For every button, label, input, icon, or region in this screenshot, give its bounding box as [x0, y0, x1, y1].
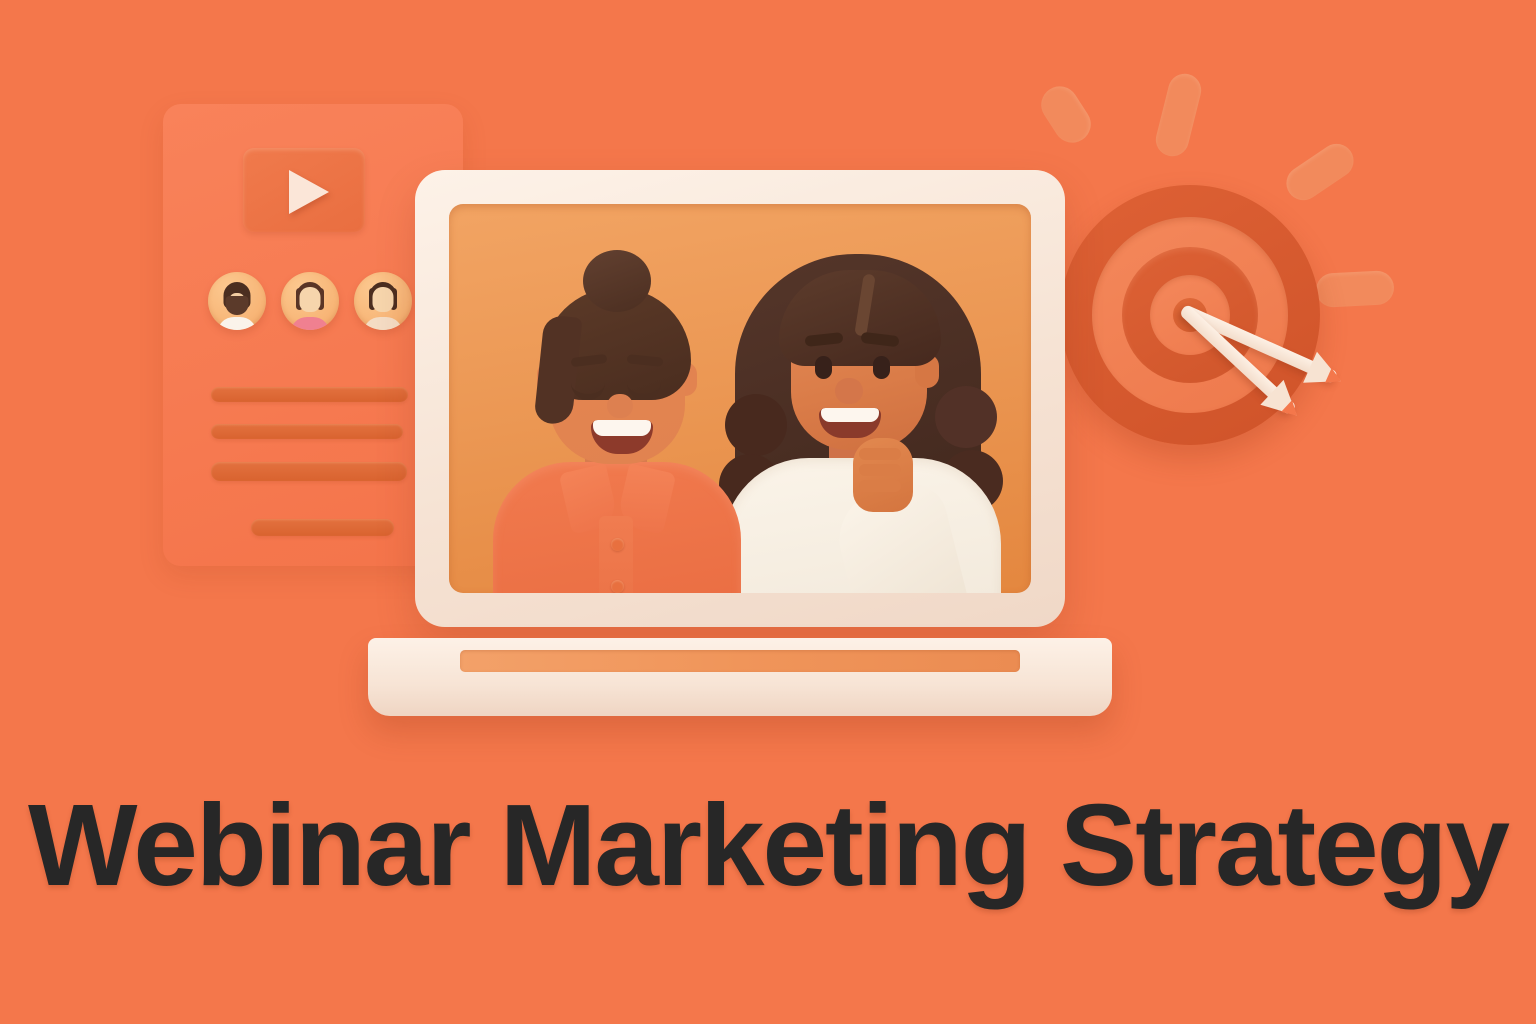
- text-placeholder-bar: [211, 462, 407, 481]
- teeth: [821, 408, 879, 422]
- page-title: Webinar Marketing Strategy: [0, 782, 1536, 910]
- avatar-head: [373, 287, 394, 312]
- burst-mark: [1315, 270, 1395, 308]
- illustration-canvas: Webinar Marketing Strategy: [0, 0, 1536, 1024]
- finger: [859, 480, 901, 492]
- avatar-body: [363, 317, 403, 330]
- hair-wave: [935, 386, 997, 448]
- finger: [859, 464, 901, 476]
- hair-bun: [583, 250, 651, 312]
- nose: [607, 394, 633, 418]
- person-bun-hairstyle: [487, 244, 747, 593]
- play-icon[interactable]: [289, 170, 329, 214]
- beard-icon: [226, 296, 249, 315]
- finger: [859, 448, 901, 460]
- avatar-head: [300, 287, 321, 312]
- shirt-button: [611, 580, 624, 593]
- teeth: [593, 420, 651, 436]
- text-placeholder-bar: [211, 424, 403, 439]
- avatar-body: [290, 317, 330, 330]
- video-thumbnail[interactable]: [243, 148, 365, 232]
- laptop-lid: [415, 170, 1065, 627]
- laptop-base: [368, 638, 1112, 716]
- arrow-fletching: [1261, 380, 1309, 428]
- text-placeholder-bar: [251, 519, 394, 536]
- burst-mark: [1034, 79, 1098, 149]
- trackpad-strip: [460, 650, 1020, 672]
- avatar[interactable]: [281, 272, 339, 330]
- laptop-screen: [449, 204, 1031, 593]
- avatar[interactable]: [208, 272, 266, 330]
- burst-mark: [1152, 70, 1204, 159]
- avatar-body: [217, 317, 257, 330]
- eye: [873, 356, 890, 379]
- eye: [815, 356, 832, 379]
- nose: [835, 378, 863, 404]
- text-placeholder-bar: [211, 387, 408, 402]
- dartboard-target: [1060, 185, 1320, 445]
- avatar[interactable]: [354, 272, 412, 330]
- shirt-button: [611, 538, 624, 551]
- person-long-wavy-hair: [717, 226, 1017, 593]
